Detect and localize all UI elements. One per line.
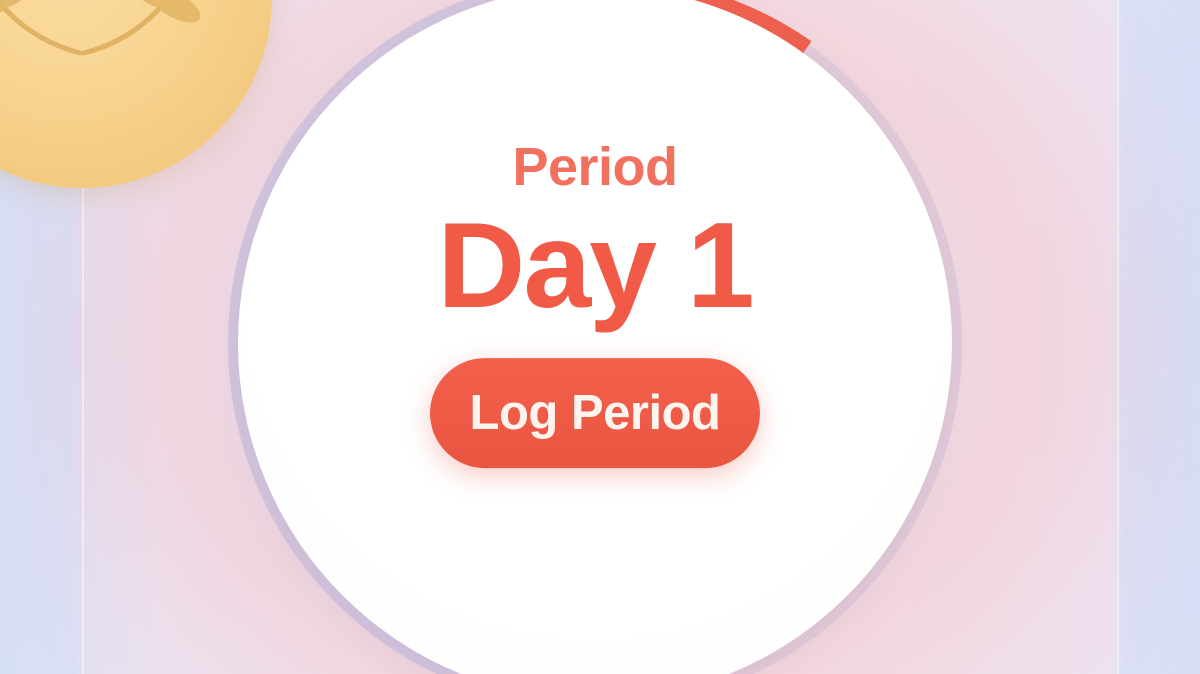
achievement-laurel-badge[interactable] xyxy=(0,0,272,188)
app-screen: Period Day 1 Log Period xyxy=(0,0,1200,674)
cycle-status-block: Period Day 1 Log Period xyxy=(245,218,945,468)
phase-label: Period xyxy=(512,140,677,194)
log-period-button[interactable]: Log Period xyxy=(430,358,760,468)
cycle-day-label: Day 1 xyxy=(437,200,753,332)
panel-seam-right xyxy=(1117,0,1119,674)
laurel-wreath-icon xyxy=(0,0,272,188)
